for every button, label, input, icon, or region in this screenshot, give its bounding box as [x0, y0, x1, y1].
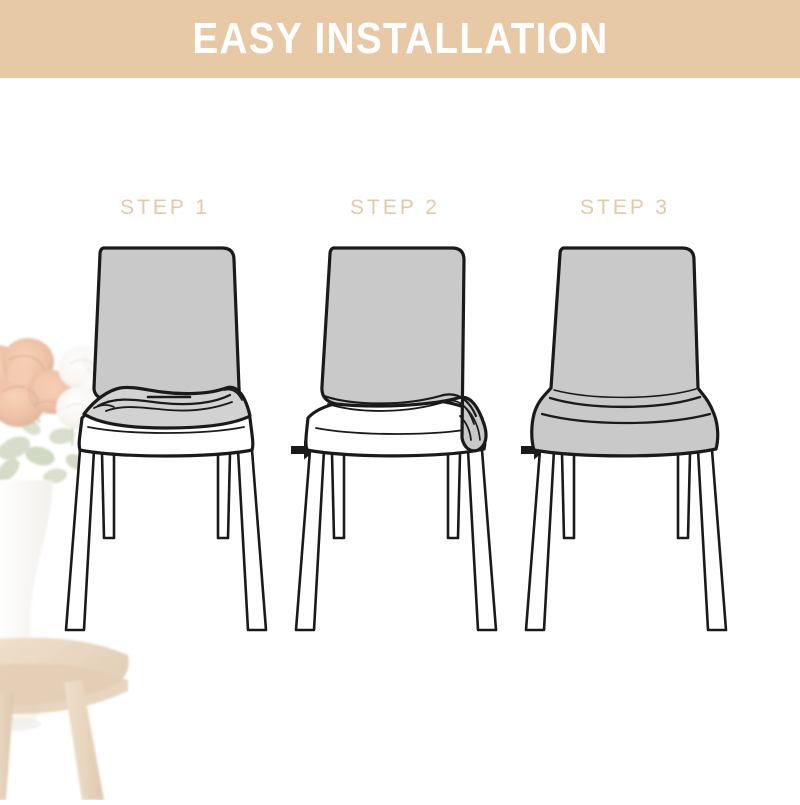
- chair-front-legs: [526, 450, 726, 630]
- step-1-label: STEP 1: [50, 196, 280, 220]
- page-title: EASY INSTALLATION: [192, 17, 608, 61]
- chair-front-legs: [66, 450, 266, 630]
- chair-illustration-step-3: [518, 238, 733, 643]
- chair-back-legs: [332, 453, 460, 538]
- step-3: STEP 3: [510, 78, 740, 800]
- chair-back-legs: [102, 453, 230, 538]
- step-2-label: STEP 2: [280, 196, 510, 220]
- chair-back-legs: [562, 453, 690, 538]
- header-banner: EASY INSTALLATION: [0, 0, 800, 78]
- cover-backrest: [94, 248, 239, 403]
- chair-illustration-step-1: [58, 238, 273, 643]
- step-2: STEP 2: [280, 78, 510, 800]
- chair-front-legs: [296, 450, 496, 630]
- step-1: STEP 1: [50, 78, 280, 800]
- steps-container: STEP 1: [0, 78, 800, 800]
- step-3-label: STEP 3: [510, 196, 740, 220]
- chair-illustration-step-2: [288, 238, 503, 643]
- cover-full: [532, 248, 718, 456]
- cover-gathered-hem: [84, 387, 250, 428]
